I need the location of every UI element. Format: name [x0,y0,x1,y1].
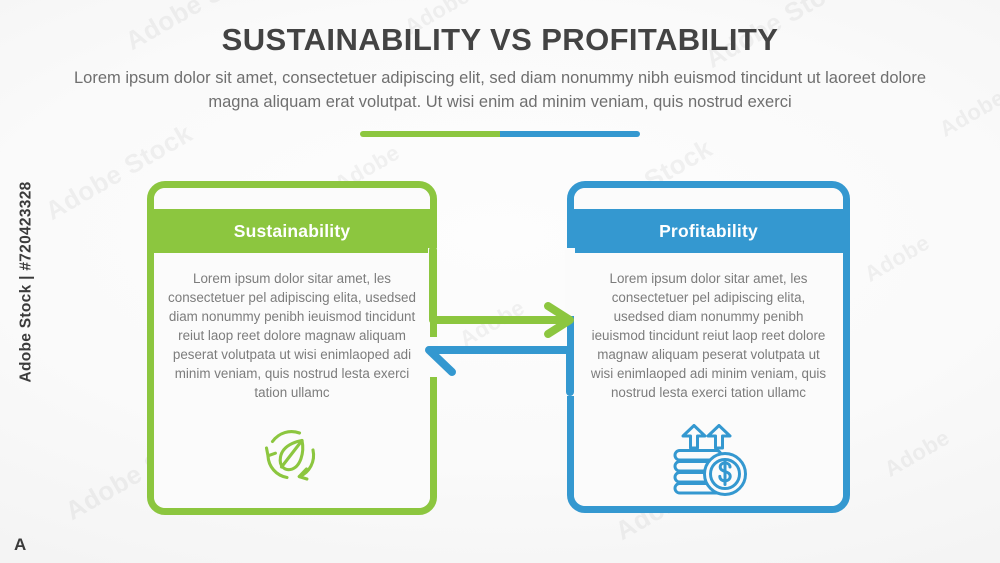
border-gap-mask-blue-upper [565,248,575,316]
card-profitability[interactable]: Profitability Lorem ipsum dolor sitar am… [567,181,850,513]
card-description-sustainability: Lorem ipsum dolor sitar amet, les consec… [166,269,418,402]
coins-growth-dollar-icon [670,424,748,501]
border-gap-mask-blue-lower [565,352,575,396]
divider-green-half [360,131,500,137]
card-header-band-profitability: Profitability [567,209,850,253]
card-body-profitability: Lorem ipsum dolor sitar amet, les consec… [574,253,843,506]
card-description-profitability: Lorem ipsum dolor sitar amet, les consec… [586,269,831,402]
page-subtitle: Lorem ipsum dolor sit amet, consectetuer… [60,67,940,115]
card-header-band-sustainability: Sustainability [147,209,437,253]
watermark-text: Adobe [860,230,934,288]
divider-blue-half [500,131,640,137]
card-body-sustainability: Lorem ipsum dolor sitar amet, les consec… [154,253,430,508]
watermark-text: Adobe [455,295,529,353]
header-divider [360,131,640,137]
card-top-notch [154,188,430,209]
watermark-text: Adobe [880,425,954,483]
border-gap-mask-green-upper [428,248,438,316]
stock-id-text: Adobe Stock | #720423328 [18,181,36,382]
slide-canvas: Adobe Stock Adobe Adobe Stock Adobe Adob… [0,0,1000,563]
corner-watermark-letter: A [14,535,26,555]
card-title-profitability: Profitability [659,221,758,242]
card-title-sustainability: Sustainability [234,221,351,242]
recycle-leaf-icon [257,424,327,491]
card-top-notch [574,188,843,209]
arrow-profitability-to-sustainability [429,350,570,392]
page-title: SUSTAINABILITY VS PROFITABILITY [0,22,1000,58]
card-sustainability[interactable]: Sustainability Lorem ipsum dolor sitar a… [147,181,437,515]
arrow-sustainability-to-profitability [433,250,570,334]
header: SUSTAINABILITY VS PROFITABILITY Lorem ip… [0,22,1000,114]
border-gap-mask-green-lower [428,337,438,377]
